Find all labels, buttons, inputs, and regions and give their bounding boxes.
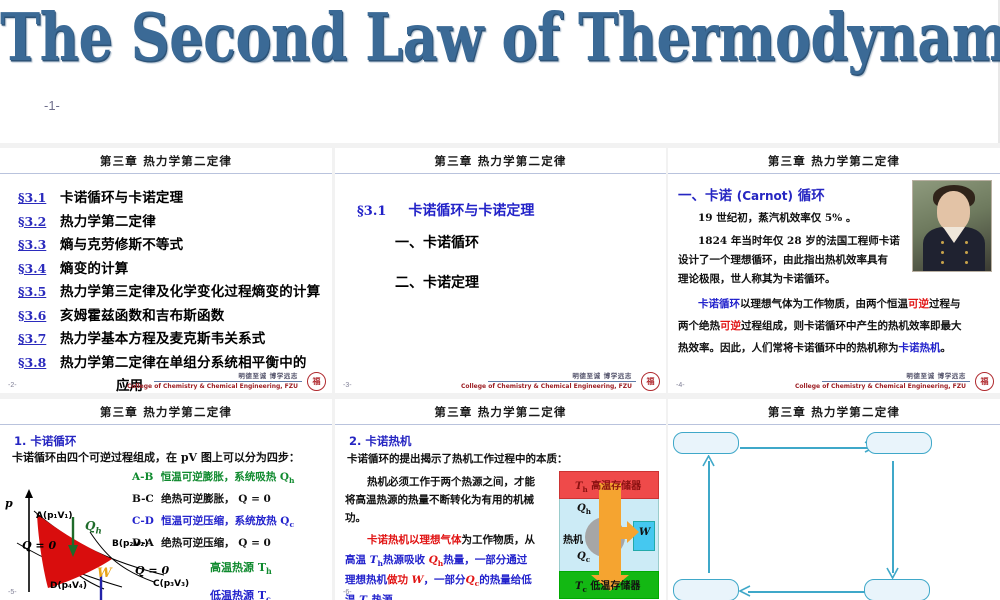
slide-header-bar: 第三章 热力学第二定律 <box>668 399 1000 425</box>
university-seal-icon: 福 <box>641 372 660 391</box>
slide-carnot-cycle-pv[interactable]: 第三章 热力学第二定律 1. 卡诺循环 卡诺循环由四个可逆过程组成，在 pV 图… <box>0 399 332 600</box>
toc-number[interactable]: §3.6 <box>18 308 60 323</box>
toc-label: 热力学第二定律 <box>60 210 156 230</box>
slide-grid-page: The Second Law of Thermodynamics -1- 第三章… <box>0 0 1000 600</box>
engine-high-temp: 高温 <box>345 554 366 566</box>
point-b-label: B(p₂V₂) <box>112 539 148 549</box>
slide-section-title[interactable]: 第三章 热力学第二定律 §3.1 卡诺循环与卡诺定理 一、卡诺循环 二、卡诺定理… <box>335 148 666 393</box>
toc-number[interactable]: §3.3 <box>18 237 60 252</box>
reversible-term-1: 可逆 <box>908 298 929 310</box>
engine-para-2b-tail: 热量，一部分通过 <box>443 554 527 566</box>
section-heading: §3.1 卡诺循环与卡诺定理 <box>357 200 534 220</box>
carnot-para-2c: 理论极限，世人称其为卡诺循环。 <box>678 271 836 288</box>
diagram-Th-sub: h <box>582 485 587 494</box>
toc-label: 亥姆霍兹函数和吉布斯函数 <box>60 304 224 324</box>
university-seal-icon: 福 <box>307 372 326 391</box>
diagram-Qc: Q <box>577 551 586 562</box>
carnot-engine-term: 卡诺热机 <box>899 342 941 354</box>
work-arrowhead-icon <box>627 521 639 543</box>
list-item[interactable]: §3.5 热力学第三定律及化学变化过程熵变的计算 <box>18 280 324 300</box>
slide-page-number: -2- <box>8 382 17 389</box>
toc-number[interactable]: §3.8 <box>18 355 60 370</box>
carnot-heading-cn2: 循环 <box>798 188 825 204</box>
state-box-1[interactable] <box>673 432 739 454</box>
step-ab: A-B 恒温可逆膨胀，系统吸热 Qh <box>132 469 295 485</box>
diagram-qh-label: Qh <box>577 503 591 516</box>
engine-para-2b: 高温 Th热源吸收 Qh热量，一部分通过 <box>345 552 527 570</box>
list-item[interactable]: §3.2 热力学第二定律 <box>18 210 324 230</box>
carnot-para-3a-tail: 过程与 <box>929 298 961 310</box>
footer-divider <box>154 381 302 382</box>
arrow-left-line <box>708 461 710 573</box>
footer-school: College of Chemistry & Chemical Engineer… <box>127 383 298 390</box>
qh-sub: h <box>95 526 101 536</box>
slide-header-text: 第三章 热力学第二定律 <box>100 404 232 420</box>
slide-carnot-intro[interactable]: 第三章 热力学第二定律 一、卡诺 (Carnot) 循环 19 世纪初，蒸汽机效… <box>668 148 1000 393</box>
list-item[interactable]: §3.1 卡诺循环与卡诺定理 <box>18 186 324 206</box>
toc-label: 熵变的计算 <box>60 257 129 277</box>
section-number: §3.1 <box>357 204 386 219</box>
slide-carnot-cycle-states[interactable]: 第三章 热力学第二定律 <box>668 399 1000 600</box>
carnot-para-3b-head: 两个绝热 <box>678 320 720 332</box>
slide-page-number: -3- <box>343 382 352 389</box>
diagram-W: W <box>639 527 650 538</box>
engine-term-ideal-gas: 理想气体 <box>420 534 462 546</box>
engine-absorb: 热源吸收 <box>383 554 425 566</box>
footer-divider <box>488 381 636 382</box>
slide-header-text: 第三章 热力学第二定律 <box>434 404 566 420</box>
q-zero-left: Q = 0 <box>22 539 56 552</box>
toc-number[interactable]: §3.5 <box>18 284 60 299</box>
list-item[interactable]: §3.3 熵与克劳修斯不等式 <box>18 233 324 253</box>
carnot-cycle-term: 卡诺循环 <box>698 298 740 310</box>
step-ab-text: 恒温可逆膨胀，系统吸热 Q <box>161 471 289 483</box>
toc-label: 热力学第二定律在单组分系统相平衡中的 <box>60 351 307 371</box>
slide-header-bar: 第三章 热力学第二定律 <box>335 399 666 425</box>
carnot-para-3b: 两个绝热可逆过程组成，则卡诺循环中产生的热机效率即最大 <box>678 318 962 335</box>
hot-reservoir-sub: h <box>266 567 272 576</box>
footer-school: College of Chemistry & Chemical Engineer… <box>795 383 966 390</box>
engine-para-1b: 将高温热源的热量不断转化为有用的机械 <box>345 492 534 508</box>
slide-header-text: 第三章 热力学第二定律 <box>434 153 566 169</box>
carnot-para-3b-tail: 过程组成，则卡诺循环中产生的热机效率即最大 <box>741 320 962 332</box>
section-item-2: 二、卡诺定理 <box>395 272 479 292</box>
banner-page-number: -1- <box>44 98 60 113</box>
slide-header-text: 第三章 热力学第二定律 <box>768 404 900 420</box>
engine-para-1c: 功。 <box>345 510 366 526</box>
reversible-term-2: 可逆 <box>720 320 741 332</box>
carnot-heading-cn1: 一、卡诺 <box>678 188 732 204</box>
diagram-Qh-sub: h <box>586 507 591 516</box>
diagram-engine-label: 热机 <box>563 531 583 546</box>
list-item[interactable]: §3.8 热力学第二定律在单组分系统相平衡中的 <box>18 351 324 371</box>
carnot-para-1: 19 世纪初，蒸汽机效率仅 5% 。 <box>698 210 856 227</box>
toc-number[interactable]: §3.7 <box>18 331 60 346</box>
toc-label: 热力学基本方程及麦克斯韦关系式 <box>60 327 266 347</box>
engine-Qh: Q <box>429 554 438 566</box>
slide-footer: -4- 明德至诚 博学远志 College of Chemistry & Che… <box>668 371 1000 391</box>
diagram-Qh: Q <box>577 503 586 514</box>
diagram-qc-label: Qc <box>577 551 590 564</box>
slide-footer: -2- 明德至诚 博学远志 College of Chemistry & Che… <box>0 371 332 391</box>
toc-number[interactable]: §3.2 <box>18 214 60 229</box>
carnot-para-3a: 卡诺循环以理想气体为工作物质，由两个恒温可逆过程与 <box>698 296 961 313</box>
slide-footer: -3- 明德至诚 博学远志 College of Chemistry & Che… <box>335 371 666 391</box>
hot-reservoir-label: 高温热源 Th <box>210 559 272 576</box>
diagram-Qc-sub: c <box>586 555 590 564</box>
carnot-heading: 一、卡诺 (Carnot) 循环 <box>678 184 825 204</box>
slide-page-number: -4- <box>676 382 685 389</box>
arrow-top-line <box>740 447 870 449</box>
slide-toc[interactable]: 第三章 热力学第二定律 §3.1 卡诺循环与卡诺定理 §3.2 热力学第二定律 … <box>0 148 332 393</box>
engine-heading: 2. 卡诺热机 <box>349 433 411 449</box>
toc-number[interactable]: §3.4 <box>18 261 60 276</box>
toc-label: 卡诺循环与卡诺定理 <box>60 186 183 206</box>
engine-line-1: 卡诺循环的提出揭示了热机工作过程中的本质： <box>347 451 568 467</box>
slide-header-bar: 第三章 热力学第二定律 <box>668 148 1000 174</box>
toc-label: 熵与克劳修斯不等式 <box>60 233 183 253</box>
point-a-label: A(p₁V₁) <box>36 511 72 521</box>
q-zero-right: Q = 0 <box>135 564 169 577</box>
carnot-para-3c: 热效率。因此，人们常将卡诺循环中的热机称为卡诺热机。 <box>678 340 951 357</box>
section-item-1: 一、卡诺循环 <box>395 232 479 252</box>
arrow-right-line <box>892 461 894 573</box>
footer-motto: 明德至诚 博学远志 <box>572 370 632 380</box>
carnot-heading-en: (Carnot) <box>737 189 793 203</box>
list-item[interactable]: §3.4 熵变的计算 <box>18 257 324 277</box>
qh-text: Q <box>85 519 95 533</box>
slide-header-bar: 第三章 热力学第二定律 <box>335 148 666 174</box>
footer-divider <box>822 381 970 382</box>
slide-footer: -5- <box>0 578 332 598</box>
axis-label-p: p <box>5 497 13 510</box>
carnot-para-3c-tail: 。 <box>941 342 952 354</box>
list-item[interactable]: §3.6 亥姆霍兹函数和吉布斯函数 <box>18 304 324 324</box>
diagram-work-label: W <box>639 527 650 538</box>
slide-header-text: 第三章 热力学第二定律 <box>100 153 232 169</box>
step-cd-sub: c <box>289 520 294 529</box>
slide-carnot-heat-engine[interactable]: 第三章 热力学第二定律 2. 卡诺热机 卡诺循环的提出揭示了热机工作过程中的本质… <box>335 399 666 600</box>
carnot-para-3a-text: 以理想气体为工作物质，由两个恒温 <box>740 298 908 310</box>
slide-page-number: -6- <box>343 589 352 596</box>
slide-header-text: 第三章 热力学第二定律 <box>768 153 900 169</box>
slide-page-number: -5- <box>8 589 17 596</box>
carnot-para-2b: 设计了一个理想循环，由此指出热机效率具有 <box>678 252 888 269</box>
footer-motto: 明德至诚 博学远志 <box>906 370 966 380</box>
pv-heading: 1. 卡诺循环 <box>14 433 76 449</box>
engine-para-2a: 卡诺热机以理想气体为工作物质，从 <box>367 532 535 548</box>
page-title: The Second Law of Thermodynamics <box>0 0 998 76</box>
engine-para-2a-tail: 为工作物质，从 <box>462 534 536 546</box>
carnot-para-3c-head: 热效率。因此，人们常将卡诺循环中的热机称为 <box>678 342 899 354</box>
slide-banner: The Second Law of Thermodynamics -1- <box>0 0 1000 143</box>
hot-reservoir-text: 高温热源 T <box>210 561 266 574</box>
step-ab-sub: h <box>289 476 295 485</box>
engine-term-carnot: 卡诺热机以 <box>367 534 420 546</box>
section-title-text: 卡诺循环与卡诺定理 <box>408 200 534 220</box>
qh-arrow-label: Qh <box>85 519 102 536</box>
state-box-2[interactable] <box>866 432 932 454</box>
carnot-portrait <box>912 180 992 272</box>
footer-school: College of Chemistry & Chemical Engineer… <box>461 383 632 390</box>
slide-header-bar: 第三章 热力学第二定律 <box>0 399 332 425</box>
list-item[interactable]: §3.7 热力学基本方程及麦克斯韦关系式 <box>18 327 324 347</box>
arrow-left-head-icon <box>702 455 716 469</box>
toc-label: 热力学第三定律及化学变化过程熵变的计算 <box>60 280 320 300</box>
diagram-hot-text: 高温存储器 <box>591 481 641 492</box>
footer-motto: 明德至诚 博学远志 <box>238 370 298 380</box>
toc-list: §3.1 卡诺循环与卡诺定理 §3.2 热力学第二定律 §3.3 熵与克劳修斯不… <box>18 186 324 393</box>
slide-header-bar: 第三章 热力学第二定律 <box>0 148 332 174</box>
pv-intro: 卡诺循环由四个可逆过程组成，在 pV 图上可以分为四步： <box>12 449 300 465</box>
step-ab-tag: A-B <box>132 471 153 483</box>
slide-footer <box>668 578 1000 598</box>
carnot-para-2a: 1824 年当时年仅 28 岁的法国工程师卡诺 <box>698 233 900 250</box>
diagram-hot-label: Th 高温存储器 <box>575 477 641 494</box>
engine-para-1a: 热机必须工作于两个热源之间，才能 <box>367 474 535 490</box>
university-seal-icon: 福 <box>975 372 994 391</box>
slide-footer: -6- <box>335 578 666 598</box>
toc-number[interactable]: §3.1 <box>18 190 60 205</box>
